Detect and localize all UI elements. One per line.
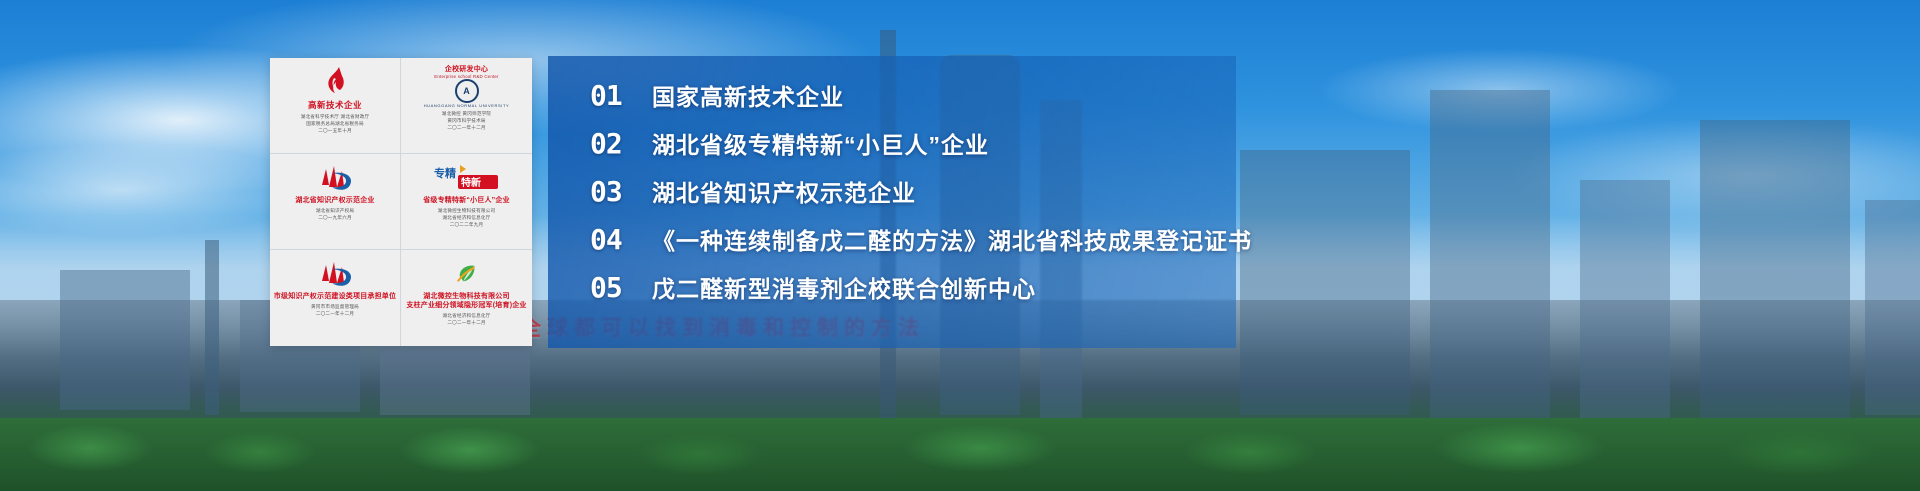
certificate-title: 企校研发中心	[445, 66, 488, 74]
certificate-title-secondary: 支柱产业细分领域隐形冠军(培育)企业	[406, 302, 526, 310]
certificate-card-pillar-industry-chain-enterprise[interactable]: 湖北微控生物科技有限公司 支柱产业细分领域隐形冠军(培育)企业 湖北省经济和信息…	[401, 250, 532, 346]
certificate-title: 湖北微控生物科技有限公司	[423, 293, 509, 301]
plant-structure	[1865, 200, 1920, 415]
certificate-card-ip-demo-construction-unit[interactable]: 市级知识产权示范建设类项目承担单位 黄冈市市场监督管理局 二〇二一年十二月	[270, 250, 401, 346]
list-item-number: 04	[590, 223, 652, 256]
certificate-subtitle-line: 湖北微控生物科技有限公司	[438, 208, 496, 215]
list-item-label: 《一种连续制备戊二醛的方法》湖北省科技成果登记证书	[652, 222, 1252, 256]
certificate-subtitle: 湖北微控 黄冈师范学院 黄冈市科学技术局 二〇二一年十二月	[442, 111, 491, 132]
certificate-subtitle-line: 黄冈市科学技术局	[442, 118, 491, 125]
certificate-subtitle-line: 湖北省经济和信息化厅	[438, 215, 496, 222]
list-item-label: 湖北省知识产权示范企业	[652, 174, 916, 208]
certificate-card-high-tech-enterprise[interactable]: 高新技术企业 湖北省科学技术厅 湖北省财政厅 国家税务总局湖北省税务局 二〇一五…	[270, 58, 401, 154]
list-item-label: 国家高新技术企业	[652, 78, 844, 112]
svg-text:专精: 专精	[434, 166, 456, 180]
blue-star-icon-svg	[312, 259, 358, 289]
certificate-subtitle: 湖北省经济和信息化厅 二〇二一年十二月	[443, 313, 491, 327]
certificate-card-enterprise-school-rd-center[interactable]: 企校研发中心 Enterprise school R&D Center A HU…	[401, 58, 532, 154]
school-name-en: HUANGGANG NORMAL UNIVERSITY	[424, 103, 510, 108]
certificate-subtitle: 黄冈市市场监督管理局 二〇二一年十二月	[311, 304, 359, 318]
blue-star-icon	[312, 256, 358, 292]
foliage-row	[0, 418, 1920, 491]
list-item[interactable]: 05 戊二醛新型消毒剂企校联合创新中心	[590, 270, 1240, 318]
list-item-number: 02	[590, 127, 652, 160]
list-item-number: 05	[590, 271, 652, 304]
list-item-number: 01	[590, 79, 652, 112]
plant-structure	[1700, 120, 1850, 420]
certificate-subtitle: 湖北微控生物科技有限公司 湖北省经济和信息化厅 二〇二二年九月	[438, 208, 496, 229]
certificate-card-specialized-little-giant[interactable]: 专精 特新 省级专精特新“小巨人”企业 湖北微控生物科技有限公司 湖北省经济和信…	[401, 154, 532, 250]
plant-structure	[205, 240, 219, 415]
certificate-subtitle-line: 二〇一九年六月	[316, 215, 354, 222]
certificate-title: 高新技术企业	[308, 101, 362, 111]
green-leaf-icon	[456, 256, 478, 292]
certificate-subtitle-line: 二〇一五年十月	[301, 128, 370, 135]
certificate-subtitle-line: 二〇二一年十二月	[443, 320, 491, 327]
certificate-subtitle-line: 湖北省科学技术厅 湖北省财政厅	[301, 114, 370, 121]
plant-structure	[1580, 180, 1670, 420]
qualifications-list: 01 国家高新技术企业 02 湖北省级专精特新“小巨人”企业 03 湖北省知识产…	[590, 78, 1240, 318]
list-item[interactable]: 02 湖北省级专精特新“小巨人”企业	[590, 126, 1240, 174]
plant-structure	[1430, 90, 1550, 420]
certificate-subtitle-line: 二〇二一年十二月	[442, 125, 491, 132]
certificate-title: 省级专精特新“小巨人”企业	[423, 197, 510, 205]
certificate-grid: 高新技术企业 湖北省科学技术厅 湖北省财政厅 国家税务总局湖北省税务局 二〇一五…	[270, 58, 532, 346]
plant-structure	[1240, 150, 1410, 415]
list-item-label: 戊二醛新型消毒剂企校联合创新中心	[652, 270, 1036, 304]
certificate-title: 市级知识产权示范建设类项目承担单位	[274, 293, 396, 301]
certificate-subtitle-line: 二〇二二年九月	[438, 222, 496, 229]
green-leaf-icon-svg	[456, 263, 478, 285]
list-item-number: 03	[590, 175, 652, 208]
plant-structure	[60, 270, 190, 410]
blue-star-icon-svg	[312, 163, 358, 193]
certificate-subtitle-line: 湖北省知识产权局	[316, 208, 354, 215]
zhuanjing-texin-icon: 专精 特新	[432, 160, 502, 196]
certificate-subtitle-line: 二〇二一年十二月	[311, 311, 359, 318]
certificate-subtitle-line: 湖北省经济和信息化厅	[443, 313, 491, 320]
certificate-subtitle: 湖北省科学技术厅 湖北省财政厅 国家税务总局湖北省税务局 二〇一五年十月	[301, 114, 370, 135]
certificate-subtitle-line: 国家税务总局湖北省税务局	[301, 121, 370, 128]
list-item[interactable]: 03 湖北省知识产权示范企业	[590, 174, 1240, 222]
certificate-card-ip-demonstration-enterprise[interactable]: 湖北省知识产权示范企业 湖北省知识产权局 二〇一九年六月	[270, 154, 401, 250]
certificate-title: 湖北省知识产权示范企业	[295, 197, 374, 205]
list-item[interactable]: 01 国家高新技术企业	[590, 78, 1240, 126]
svg-text:特新: 特新	[461, 176, 481, 189]
red-flame-icon-svg	[322, 67, 348, 97]
school-badge-icon: A	[455, 79, 479, 103]
banner-stage: 全球都可以找到消毒和控制的方法 高新技术企业 湖北省科学技术厅 湖北省财政厅 国…	[0, 0, 1920, 491]
certificate-subtitle: 湖北省知识产权局 二〇一九年六月	[316, 208, 354, 222]
school-badge-circle: A	[455, 79, 479, 103]
list-item-label: 湖北省级专精特新“小巨人”企业	[652, 126, 989, 160]
certificate-subtitle-line: 黄冈市市场监督管理局	[311, 304, 359, 311]
certificate-subtitle-line: 湖北微控 黄冈师范学院	[442, 111, 491, 118]
zhuanjing-texin-icon-svg: 专精 特新	[432, 163, 502, 193]
list-item[interactable]: 04 《一种连续制备戊二醛的方法》湖北省科技成果登记证书	[590, 222, 1240, 270]
blue-star-icon	[312, 160, 358, 196]
red-flame-icon	[322, 64, 348, 100]
